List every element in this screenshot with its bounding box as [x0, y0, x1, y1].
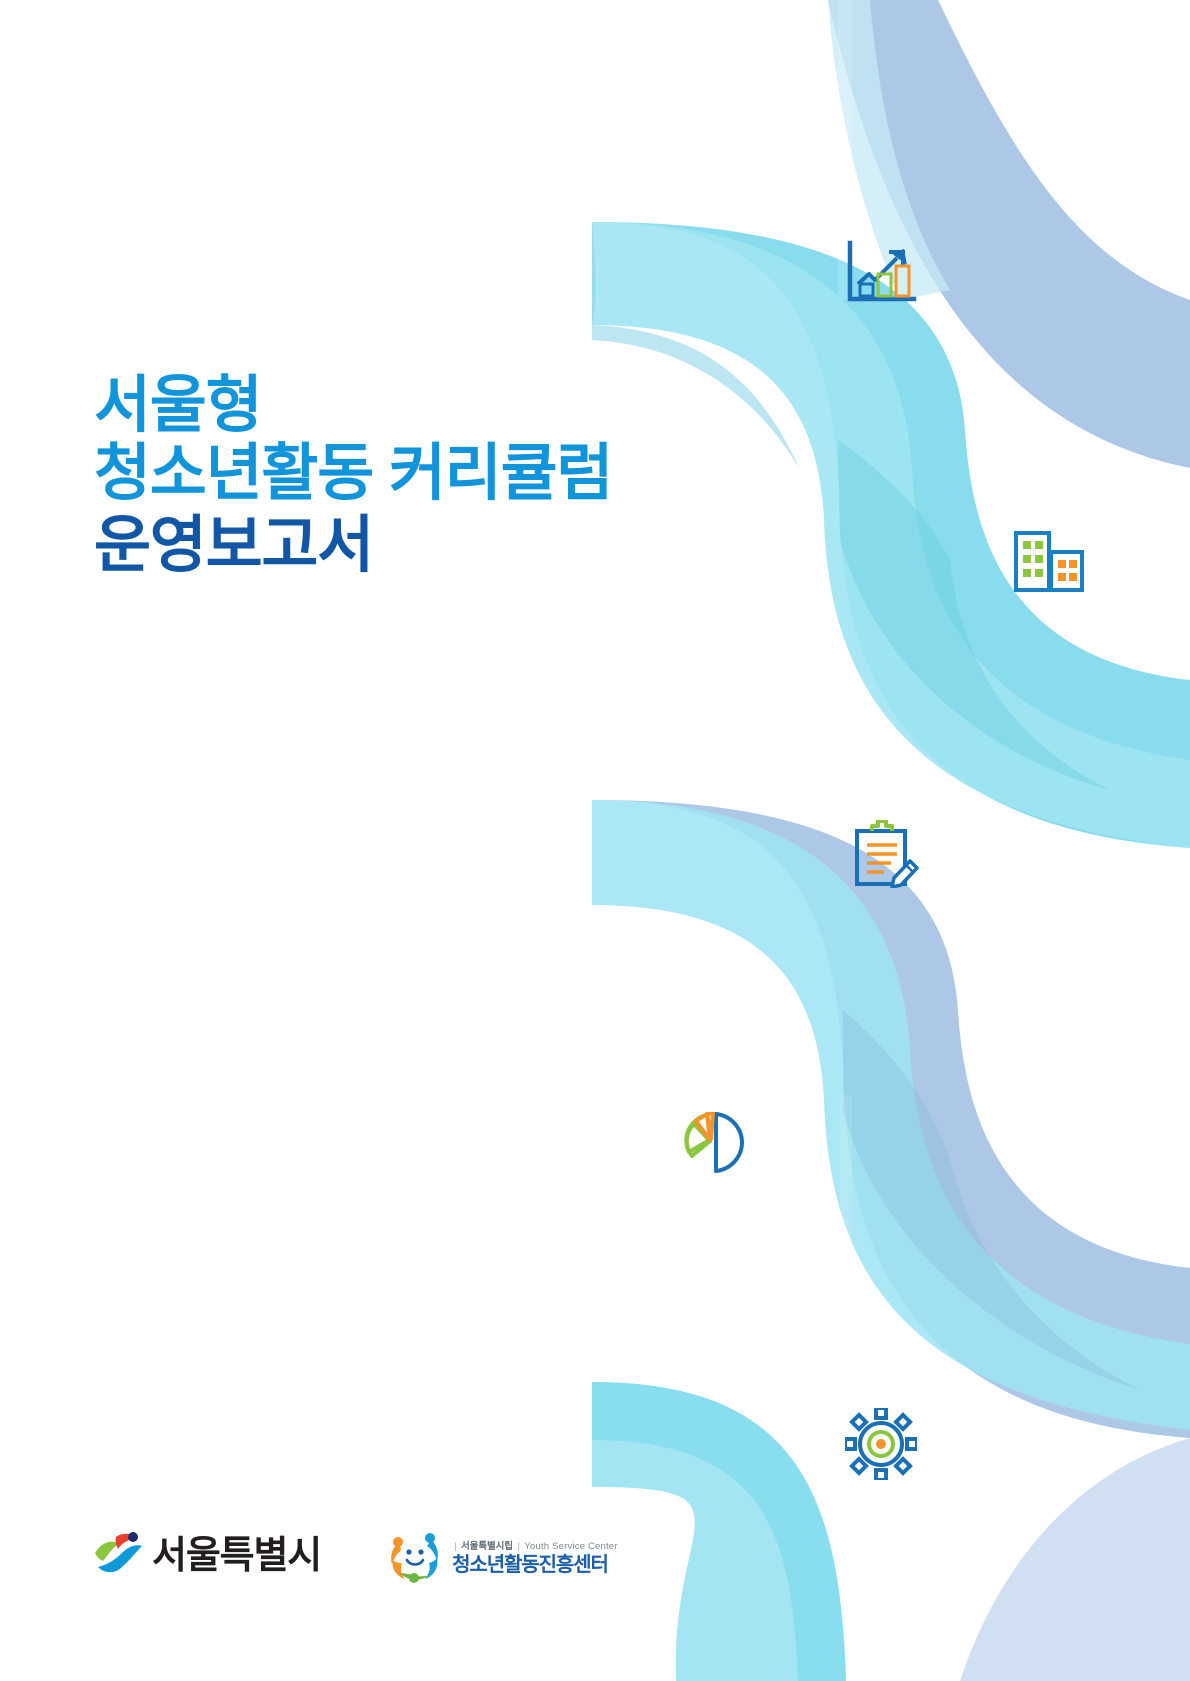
superline-separator-left: |	[452, 1541, 458, 1552]
youth-center-text: | 서울특별시립 | Youth Service Center 청소년활동진흥센…	[452, 1538, 618, 1575]
seoul-symbol-icon	[92, 1531, 144, 1581]
seoul-wordmark: 서울특별시	[152, 1537, 321, 1575]
superline-en: Youth Service Center	[524, 1541, 617, 1552]
gear-icon	[845, 1408, 917, 1480]
logo-youth-service-center: | 서울특별시립 | Youth Service Center 청소년활동진흥센…	[387, 1528, 618, 1584]
youth-center-name: 청소년활동진흥센터	[452, 1555, 618, 1575]
superline-separator-right: |	[515, 1541, 521, 1552]
background-ribbon-artwork	[0, 0, 1190, 1681]
pie-chart-icon	[682, 1112, 744, 1174]
clipboard-icon	[853, 820, 919, 888]
title-line-1: 서울형	[94, 372, 734, 440]
title-line-2: 청소년활동 커리큘럼	[94, 440, 734, 508]
logo-seoul: 서울특별시	[92, 1531, 321, 1581]
youth-center-superline: | 서울특별시립 | Youth Service Center	[452, 1538, 618, 1552]
superline-kr: 서울특별시립	[461, 1541, 513, 1552]
logo-row: 서울특별시	[92, 1528, 618, 1584]
title-line-3: 운영보고서	[94, 512, 734, 580]
bar-chart-icon	[845, 240, 917, 306]
report-cover-page: 서울형 청소년활동 커리큘럼 운영보고서	[0, 0, 1190, 1681]
cover-title-block: 서울형 청소년활동 커리큘럼 운영보고서	[94, 372, 734, 581]
youth-center-symbol-icon	[387, 1528, 443, 1584]
buildings-icon	[1013, 530, 1085, 592]
